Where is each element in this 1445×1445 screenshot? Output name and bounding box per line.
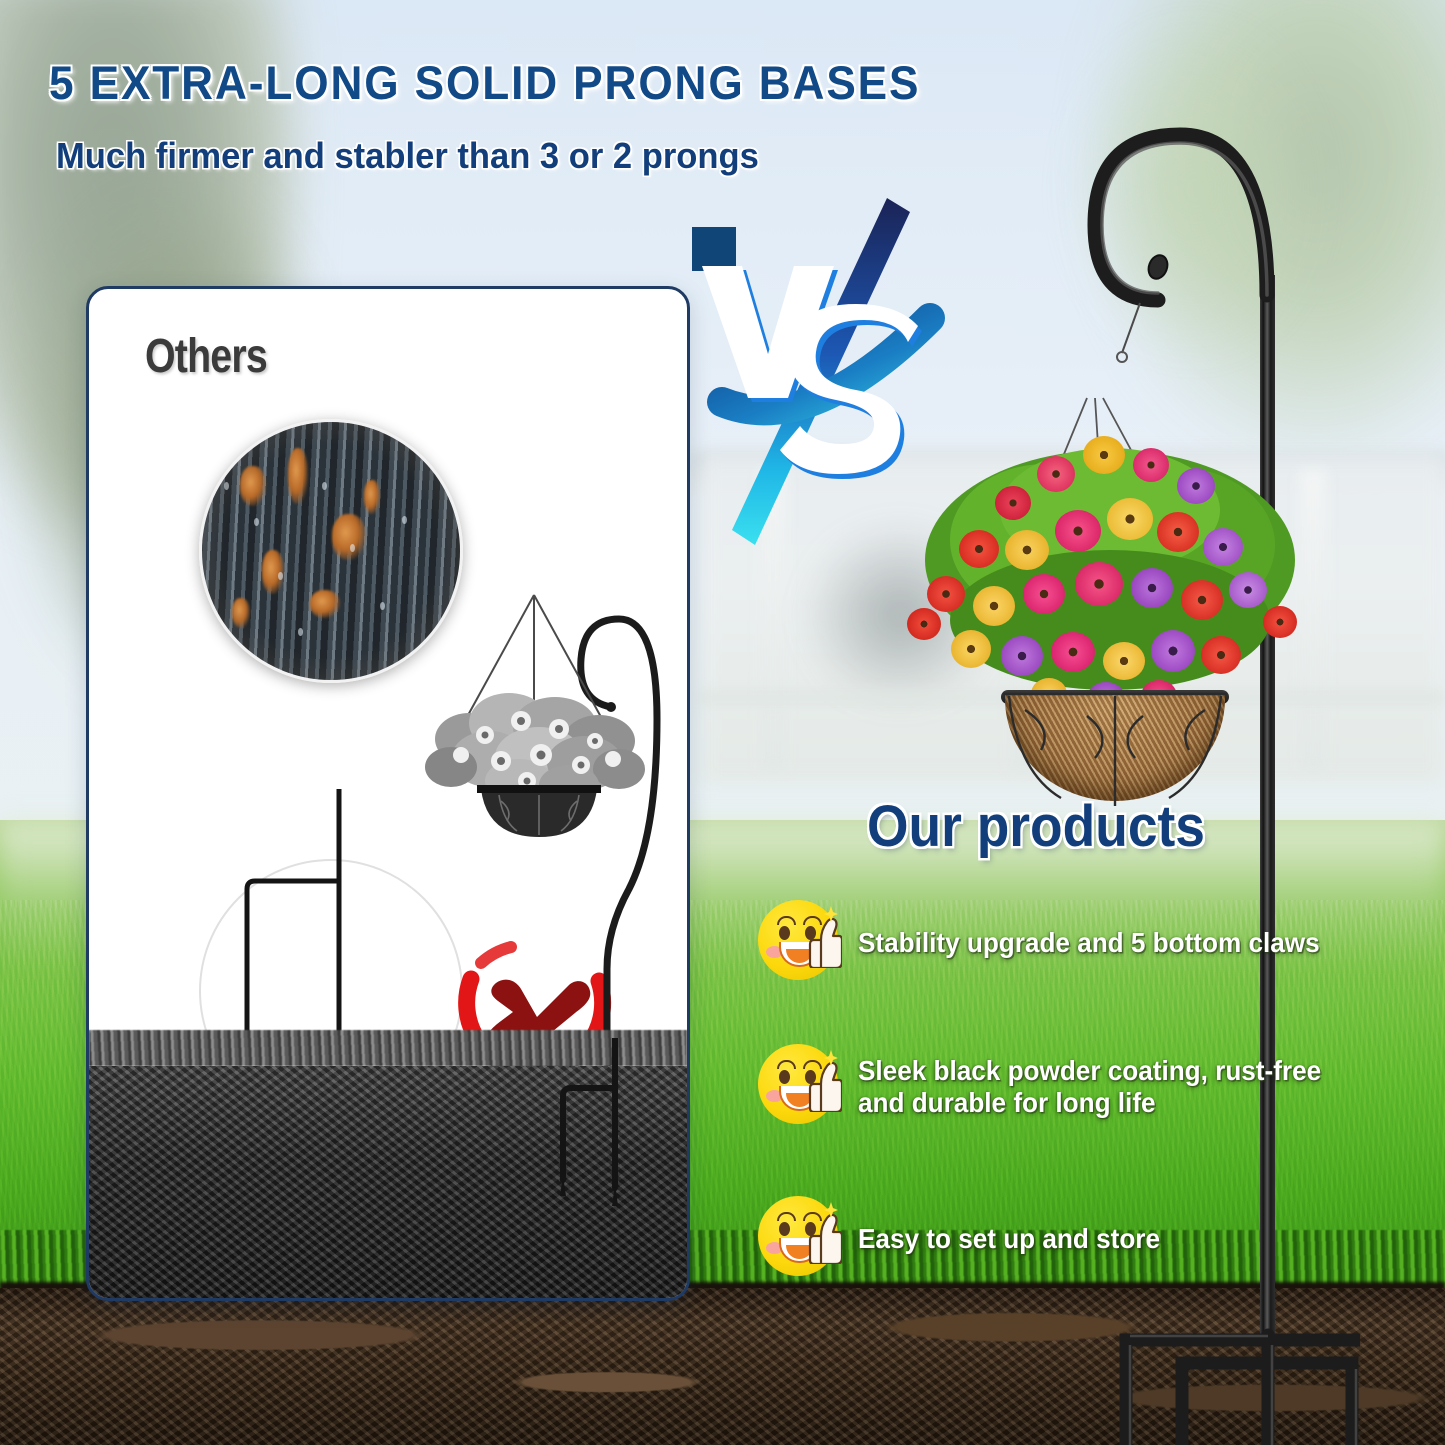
flower [973, 586, 1015, 626]
flower [1005, 530, 1049, 570]
grey-hanging-basket-icon [389, 589, 679, 839]
flower [1131, 568, 1173, 608]
flower [1157, 512, 1199, 552]
flower [907, 608, 941, 640]
smiley-thumbs-up-icon [758, 900, 844, 986]
others-label: Others [145, 329, 267, 384]
feature-text: Sleek black powder coating, rust-free an… [858, 1055, 1321, 1119]
flower [1075, 562, 1123, 606]
flower [1107, 498, 1153, 540]
flower [1229, 572, 1267, 608]
infographic-canvas: 5 EXTRA-LONG SOLID PRONG BASES Much firm… [0, 0, 1445, 1445]
flower [1177, 468, 1215, 504]
flower [959, 530, 999, 568]
page-subtitle: Much firmer and stabler than 3 or 2 pron… [56, 135, 920, 177]
flower [1181, 580, 1223, 620]
flower [1151, 630, 1195, 672]
smiley-thumbs-up-icon [758, 1044, 844, 1130]
flower [1051, 632, 1095, 672]
flower [1263, 606, 1297, 638]
flower-basket [855, 390, 1375, 790]
flower [1055, 510, 1101, 552]
flower [995, 486, 1031, 520]
flower [1001, 636, 1043, 676]
flower [951, 630, 991, 668]
flower [927, 576, 965, 612]
others-comparison-panel: Others [86, 286, 690, 1301]
flower [1083, 436, 1125, 474]
our-products-label: Our products [867, 793, 1205, 860]
page-title: 5 EXTRA-LONG SOLID PRONG BASES [49, 55, 895, 110]
smiley-thumbs-up-icon [758, 1196, 844, 1282]
flower [1023, 574, 1065, 614]
list-item: Stability upgrade and 5 bottom claws [758, 900, 1418, 986]
flower [1037, 456, 1075, 492]
flower [1103, 642, 1145, 680]
flower [1203, 528, 1243, 566]
flower [1133, 448, 1169, 482]
flower [1201, 636, 1241, 674]
feature-list: Stability upgrade and 5 bottom claws Sle… [758, 900, 1418, 1224]
list-item: Sleek black powder coating, rust-free an… [758, 1044, 1418, 1130]
feature-text: Easy to set up and store [858, 1223, 1160, 1255]
feature-text: Stability upgrade and 5 bottom claws [858, 927, 1320, 959]
list-item: Easy to set up and store [758, 1196, 1418, 1282]
buried-two-prong-stake-icon [519, 1038, 659, 1298]
